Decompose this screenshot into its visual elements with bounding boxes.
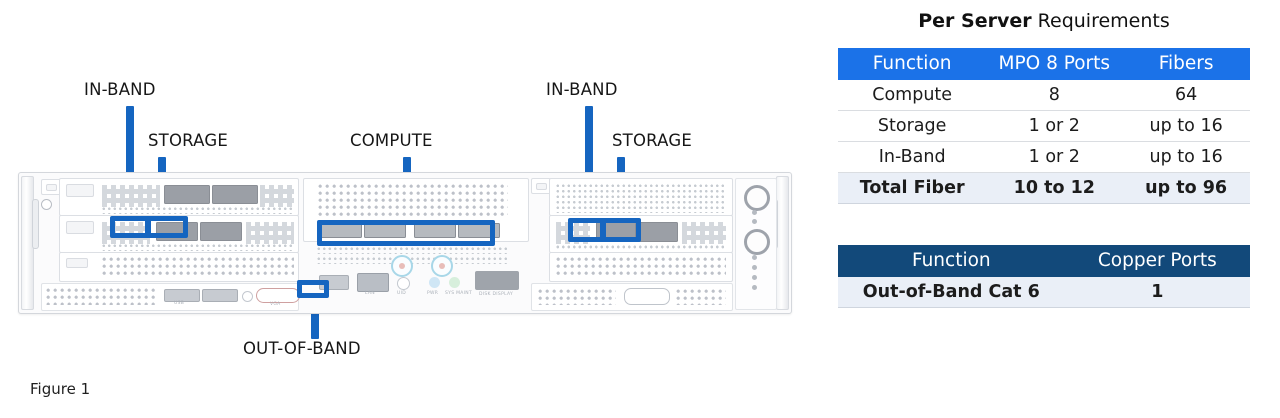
cell-total-function: Total Fiber bbox=[838, 173, 986, 204]
card-tab-3 bbox=[66, 258, 88, 268]
lan-label: LAN bbox=[365, 291, 375, 296]
riser-bay-right-top bbox=[531, 178, 551, 194]
io-strip-center: LAN UID PWR SYS MAINT DISK DISPLAY bbox=[303, 269, 527, 309]
blank-panel-left bbox=[59, 252, 299, 282]
highlight-box-inband-left bbox=[110, 216, 150, 238]
card-tab-1 bbox=[66, 184, 94, 197]
vga-label: VGA bbox=[270, 302, 281, 307]
riser-bay-left-top bbox=[41, 179, 61, 195]
table-row: Compute 8 64 bbox=[838, 80, 1250, 111]
header-fibers: Fibers bbox=[1122, 48, 1250, 80]
cell-function: Storage bbox=[838, 111, 986, 142]
card-led-row-1 bbox=[102, 207, 294, 214]
bay-tab bbox=[46, 184, 57, 191]
cell-ports: 1 or 2 bbox=[986, 111, 1122, 142]
header-function: Function bbox=[838, 48, 986, 80]
uid-button-left bbox=[242, 291, 253, 302]
compute-vent-top bbox=[318, 184, 508, 218]
card-led-row-right-2 bbox=[556, 245, 726, 251]
highlight-box-inband-right bbox=[568, 218, 605, 242]
mpo-port-left-a bbox=[164, 185, 210, 204]
chassis-handle-left bbox=[32, 199, 39, 249]
card-vent-2 bbox=[260, 185, 294, 207]
header-copper-ports: Copper Ports bbox=[1065, 245, 1250, 277]
callout-label-inband-left: IN-BAND bbox=[84, 80, 156, 99]
serial-port bbox=[624, 288, 670, 305]
power-led bbox=[429, 277, 440, 288]
cell-fibers: 64 bbox=[1122, 80, 1250, 111]
table-total-row: Total Fiber 10 to 12 up to 96 bbox=[838, 173, 1250, 204]
table-header-row: Function MPO 8 Ports Fibers bbox=[838, 48, 1250, 80]
fan-indicator-2 bbox=[431, 255, 453, 277]
mpo-port-left-b bbox=[212, 185, 258, 204]
uid-label: UID bbox=[397, 291, 406, 296]
io-vent-right-b bbox=[676, 289, 726, 305]
cell-total-ports: 10 to 12 bbox=[986, 173, 1122, 204]
highlight-box-storage-right bbox=[601, 218, 641, 242]
io-vent-right-a bbox=[538, 289, 616, 305]
card-vent-right-1 bbox=[556, 184, 726, 204]
blank-panel-right bbox=[549, 252, 733, 282]
per-server-requirements-table: Function MPO 8 Ports Fibers Compute 8 64… bbox=[838, 48, 1250, 204]
per-server-requirements-title: Per Server Requirements bbox=[838, 10, 1250, 32]
title-bold-part: Per Server bbox=[918, 10, 1031, 32]
highlight-box-storage-left bbox=[146, 216, 188, 238]
header-function: Function bbox=[838, 245, 1065, 277]
bay-tab-right bbox=[536, 183, 547, 190]
server-figure-panel: IN-BAND STORAGE COMPUTE IN-BAND STORAGE … bbox=[0, 0, 830, 418]
cell-fibers: up to 16 bbox=[1122, 111, 1250, 142]
callout-label-out-of-band: OUT-OF-BAND bbox=[243, 339, 361, 358]
sys-maint-label: SYS MAINT bbox=[445, 291, 472, 296]
cell-ports: 1 bbox=[1065, 277, 1250, 308]
cell-function: Out-of-Band Cat 6 bbox=[838, 277, 1065, 308]
table-row: Storage 1 or 2 up to 16 bbox=[838, 111, 1250, 142]
disk-display-label: DISK DISPLAY bbox=[479, 292, 513, 297]
table-header-row: Function Copper Ports bbox=[838, 245, 1250, 277]
card-tab-2 bbox=[66, 221, 94, 234]
requirements-tables-panel: Per Server Requirements Function MPO 8 P… bbox=[838, 0, 1250, 418]
panel-perforations-right bbox=[556, 257, 726, 277]
copper-ports-table: Function Copper Ports Out-of-Band Cat 6 … bbox=[838, 245, 1250, 308]
io-strip-right bbox=[531, 283, 733, 311]
network-card-right-1 bbox=[549, 178, 733, 216]
callout-label-storage-left: STORAGE bbox=[148, 131, 228, 150]
highlight-box-out-of-band bbox=[297, 280, 329, 298]
compute-led-row bbox=[317, 247, 507, 254]
cell-function: In-Band bbox=[838, 142, 986, 173]
lan-port bbox=[357, 273, 389, 292]
vga-port bbox=[256, 288, 300, 303]
callout-label-storage-right: STORAGE bbox=[612, 131, 692, 150]
cell-fibers: up to 16 bbox=[1122, 142, 1250, 173]
psu-right-pane bbox=[749, 178, 775, 308]
cell-ports: 1 or 2 bbox=[986, 142, 1122, 173]
callout-label-inband-right: IN-BAND bbox=[546, 80, 618, 99]
network-card-left-1 bbox=[59, 178, 299, 216]
card-vent-1 bbox=[102, 185, 160, 207]
fan-indicator-1 bbox=[391, 255, 413, 277]
sys-maint-led bbox=[449, 277, 460, 288]
callout-label-compute: COMPUTE bbox=[350, 131, 433, 150]
cell-function: Compute bbox=[838, 80, 986, 111]
uid-button-center bbox=[397, 277, 410, 290]
io-strip-left: USB VGA bbox=[41, 283, 299, 311]
io-vent-left bbox=[46, 288, 156, 305]
card-led-row-right-1 bbox=[556, 206, 726, 213]
card-vent-right-3 bbox=[682, 222, 726, 244]
highlight-box-compute bbox=[317, 220, 495, 246]
card-led-row-2 bbox=[102, 244, 294, 251]
table-row: Out-of-Band Cat 6 1 bbox=[838, 277, 1250, 308]
pwr-label: PWR bbox=[427, 291, 438, 296]
figure-caption: Figure 1 bbox=[30, 380, 90, 398]
mpo-port-left-d bbox=[200, 222, 242, 241]
title-rest-part: Requirements bbox=[1032, 10, 1170, 32]
panel-perforations-left bbox=[102, 257, 294, 277]
cell-ports: 8 bbox=[986, 80, 1122, 111]
mpo-port-right-b bbox=[638, 222, 678, 242]
card-vent-4 bbox=[246, 222, 294, 244]
chassis-screw-left bbox=[41, 199, 52, 210]
cell-total-fibers: up to 96 bbox=[1122, 173, 1250, 204]
usb-label-left: USB bbox=[174, 301, 184, 306]
header-mpo-ports: MPO 8 Ports bbox=[986, 48, 1122, 80]
usb-port-left-2 bbox=[202, 289, 238, 302]
table-row: In-Band 1 or 2 up to 16 bbox=[838, 142, 1250, 173]
disk-display-block bbox=[475, 271, 519, 290]
